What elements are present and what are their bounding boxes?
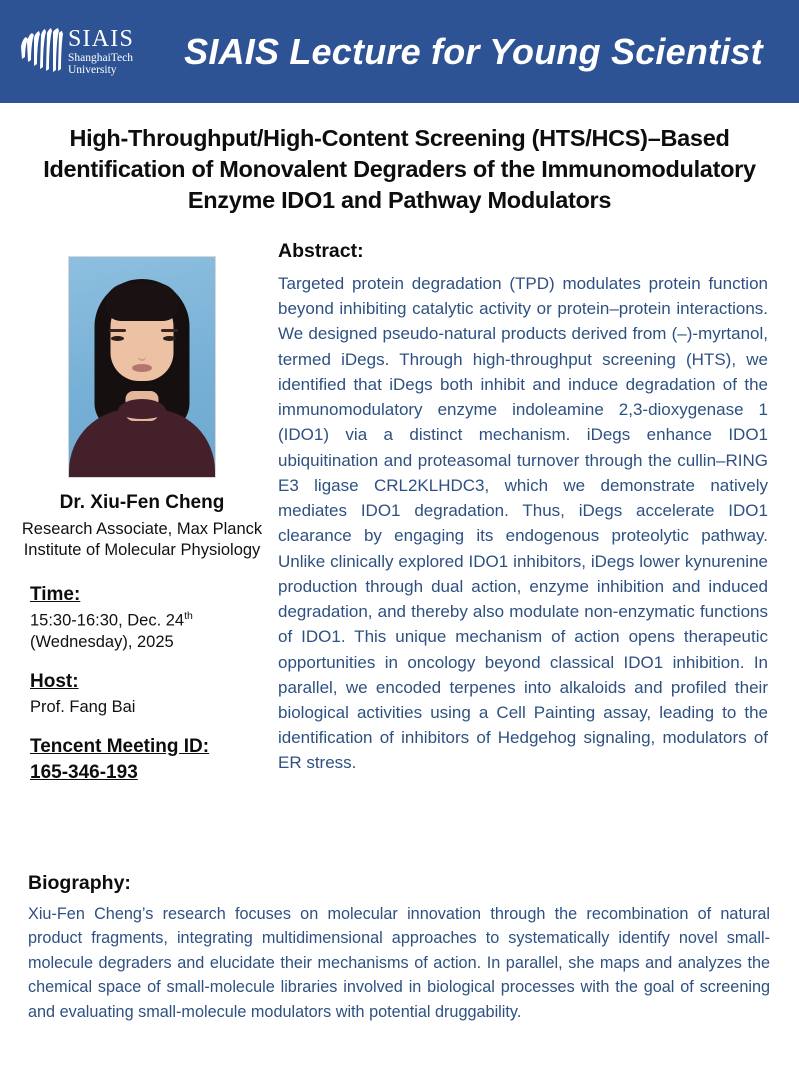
time-value-suffix: (Wednesday), 2025 [30,633,174,651]
biography-text: Xiu-Fen Cheng’s research focuses on mole… [28,902,770,1024]
host-label-row: Host: [30,671,266,693]
time-label-row: Time: [30,584,266,606]
speaker-name: Dr. Xiu-Fen Cheng [18,492,266,514]
siais-stripes-logo-icon [18,27,64,79]
logo-wordmark: SIAIS ShanghaiTech University [68,27,134,77]
meeting-label-row: Tencent Meeting ID: [30,736,266,758]
portrait-fringe [105,283,179,321]
portrait-eye-left [111,336,124,341]
portrait-eye-right [163,336,176,341]
abstract-text: Targeted protein degradation (TPD) modul… [278,271,768,776]
meeting-value-row: 165-346-193 [30,758,266,784]
spacer [30,719,266,736]
portrait-mouth [132,364,152,372]
host-value: Prof. Fang Bai [30,697,266,719]
banner-title: SIAIS Lecture for Young Scientist [158,31,799,73]
speaker-portrait-photo [68,256,216,478]
logo-university-text: University [68,65,134,77]
biography-heading: Biography: [28,872,770,895]
portrait-container [68,256,216,478]
time-label: Time: [30,584,80,606]
meeting-id-label: Tencent Meeting ID: [30,736,209,758]
meeting-id-value[interactable]: 165-346-193 [30,762,138,784]
biography-section: Biography: Xiu-Fen Cheng’s research focu… [28,872,770,1024]
lecture-title: High-Throughput/High-Content Screening (… [22,123,777,216]
siais-logo: SIAIS ShanghaiTech University [18,25,158,79]
spacer [30,654,266,671]
time-value: 15:30-16:30, Dec. 24th (Wednesday), 2025 [30,610,266,654]
time-value-prefix: 15:30-16:30, Dec. 24 [30,611,184,629]
header-banner: SIAIS ShanghaiTech University SIAIS Lect… [0,0,799,103]
abstract-column: Abstract: Targeted protein degradation (… [278,240,768,776]
speaker-affiliation: Research Associate, Max Planck Institute… [18,519,266,562]
portrait-nose [138,349,147,361]
portrait-collar [118,399,166,419]
logo-shanghaitech-text: ShanghaiTech [68,53,134,65]
portrait-eyebrow-right [161,329,178,332]
logo-siais-text: SIAIS [68,27,134,51]
time-value-ordinal: th [184,610,193,622]
details-block: Time: 15:30-16:30, Dec. 24th (Wednesday)… [18,584,266,784]
speaker-info-column: Dr. Xiu-Fen Cheng Research Associate, Ma… [18,248,266,784]
abstract-heading: Abstract: [278,240,768,263]
host-label: Host: [30,671,79,693]
portrait-eyebrow-left [109,329,126,332]
